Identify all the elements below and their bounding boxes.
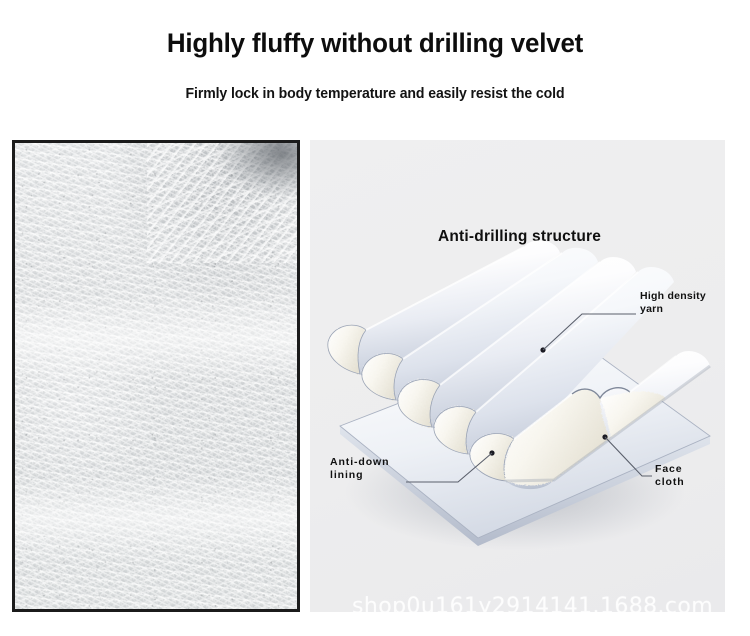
page-subtitle: Firmly lock in body temperature and easi… [11, 85, 739, 103]
quilted-structure-illustration [310, 140, 725, 612]
fiber-batting-photo-panel [12, 140, 300, 612]
fiber-shadow-corner [187, 140, 300, 215]
header: Highly fluffy without drilling velvet Fi… [0, 0, 750, 130]
callout-face-cloth: Face cloth [655, 463, 685, 488]
page-title: Highly fluffy without drilling velvet [15, 27, 735, 59]
callout-high-density-yarn: High density yarn [640, 290, 706, 315]
anti-drilling-diagram-panel: Anti-drilling structure [310, 140, 725, 612]
callout-anti-down-lining: Anti-down lining [330, 456, 389, 481]
